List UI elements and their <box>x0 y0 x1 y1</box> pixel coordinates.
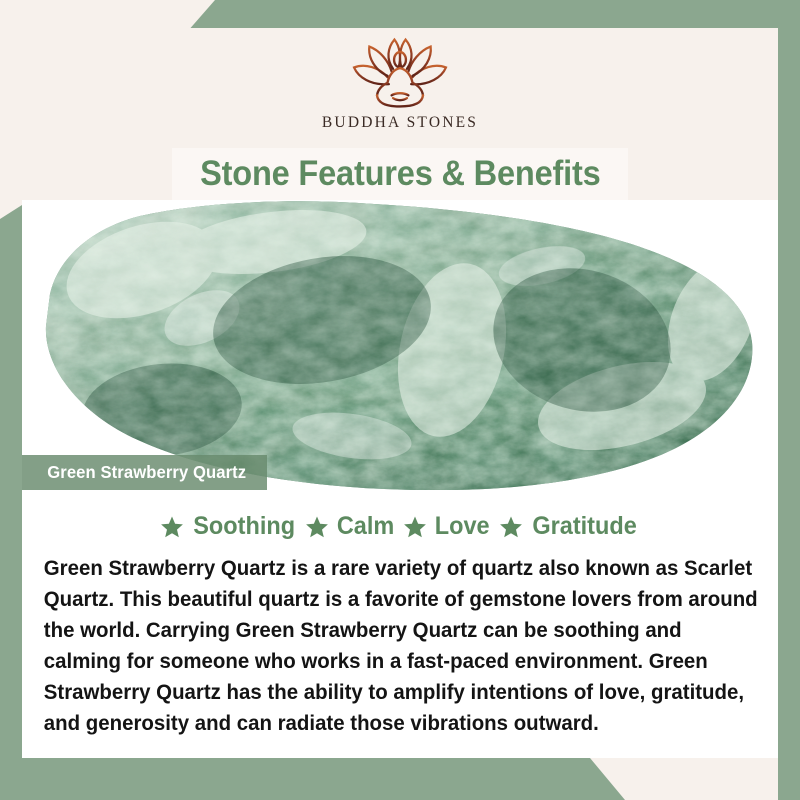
benefit-label: Love <box>435 512 490 541</box>
stone-photo: Green Strawberry Quartz <box>22 200 778 490</box>
photo-caption-band: Green Strawberry Quartz <box>22 455 267 490</box>
brand-wordmark: BUDDHA STONES <box>322 114 478 132</box>
benefit-item: Soothing <box>160 512 298 541</box>
content-card: BUDDHA STONES Stone Features & Benefits <box>22 28 778 758</box>
frame-bottom-decoration <box>0 758 800 800</box>
title-banner: Stone Features & Benefits <box>172 148 628 200</box>
content-section: Soothing Calm Love <box>22 490 778 739</box>
star-icon <box>499 515 523 539</box>
star-icon <box>305 515 329 539</box>
star-icon <box>403 515 427 539</box>
header: BUDDHA STONES Stone Features & Benefits <box>22 28 778 200</box>
photo-caption-label: Green Strawberry Quartz <box>47 462 246 483</box>
lotus-meditation-icon <box>344 34 456 112</box>
star-icon <box>160 515 184 539</box>
benefits-row: Soothing Calm Love <box>40 512 760 541</box>
benefit-item: Gratitude <box>499 512 640 541</box>
stone-photo-image <box>22 200 778 490</box>
benefit-label: Calm <box>337 512 394 541</box>
brand-logo: BUDDHA STONES <box>22 34 778 132</box>
page-title: Stone Features & Benefits <box>200 154 601 194</box>
benefit-item: Love <box>403 512 491 541</box>
frame-right-decoration <box>778 0 800 800</box>
description-paragraph: Green Strawberry Quartz is a rare variet… <box>40 553 766 739</box>
infographic-root: BUDDHA STONES Stone Features & Benefits <box>0 0 800 800</box>
benefit-label: Soothing <box>193 512 295 541</box>
frame-left-decoration <box>0 205 22 800</box>
benefit-label: Gratitude <box>532 512 636 541</box>
benefit-item: Calm <box>305 512 396 541</box>
